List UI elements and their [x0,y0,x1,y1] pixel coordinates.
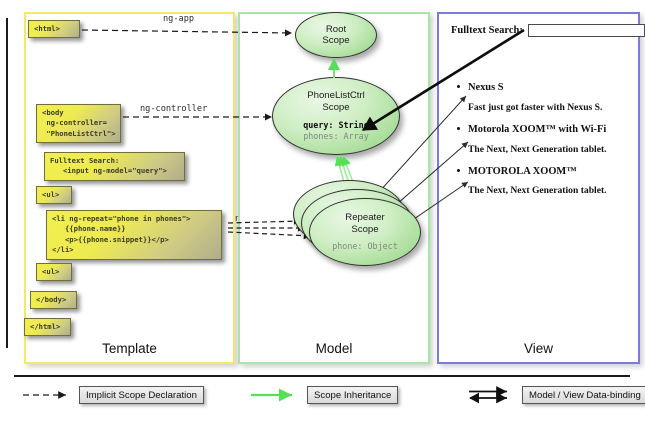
legend-scope-inheritance: Scope Inheritance [248,386,398,404]
scope-prop-query: query: String [303,120,369,131]
fulltext-search-input[interactable] [528,24,645,37]
scope-prop-phones: phones: Array [303,131,369,142]
column-label-template: Template [26,341,233,356]
scope-title-repeater: RepeaterScope [345,212,384,235]
scope-root-scope: RootScope [295,12,377,58]
connector-label-ng-app: ng-app [163,14,194,24]
legend-implicit-scope-declaration: Implicit Scope Declaration [20,386,204,404]
scope-title-phonelistctrl: PhoneListCtrlScope [307,90,365,113]
phone-snippet: The Next, Next Generation tablet. [468,185,626,197]
code-block-body-close-tag: </body> [30,291,77,309]
phone-name: MOTOROLA XOOM™ [468,165,626,179]
legend-data-binding: Model / View Data-binding [463,386,645,404]
connector-label-ng-controller: ng-controller [140,104,207,114]
scope-title-root: RootScope [322,24,349,47]
fulltext-search-label: Fulltext Search: [451,25,523,36]
column-label-view: View [439,341,638,356]
list-item: MOTOROLA XOOM™ The Next, Next Generation… [468,165,626,198]
phone-name: Motorola XOOM™ with Wi-Fi [468,123,626,137]
legend-separator [14,375,630,377]
scope-prop-phone: phone: Object [332,241,398,252]
green-arrow-icon [248,386,300,404]
legend-label: Implicit Scope Declaration [79,386,204,404]
legend-label: Model / View Data-binding [522,386,645,404]
bullet-icon [457,127,460,130]
phone-snippet: Fast just got faster with Nexus S. [468,102,626,114]
code-block-ul-open-tag: <ul> [36,186,72,204]
legend: Implicit Scope Declaration Scope Inherit… [0,386,645,412]
legend-label: Scope Inheritance [307,386,398,404]
double-arrow-icon [463,386,515,404]
scope-phonelistctrl-scope: PhoneListCtrlScope query: String phones:… [272,77,400,155]
bullet-icon [457,169,460,172]
phone-snippet: The Next, Next Generation tablet. [468,144,626,156]
code-block-html-open-tag: <html> [28,20,80,38]
code-block-search-input-markup: Fulltext Search: <input ng-model="query"… [44,152,185,181]
scope-repeater-scope: RepeaterScope phone: Object [309,198,421,266]
code-block-body-tag: <body ng-controller= "PhoneListCtrl"> [36,104,121,143]
code-block-li-ng-repeat: <li ng-repeat="phone in phones"> {{phone… [46,210,222,260]
bullet-icon [457,85,460,88]
column-label-model: Model [240,341,428,356]
code-block-ul-close-tag: <ul> [36,263,72,281]
column-view: Fulltext Search: Nexus S Fast just got f… [437,12,640,364]
code-block-html-close-tag: </html> [24,318,71,336]
phone-list: Nexus S Fast just got faster with Nexus … [451,81,626,198]
fulltext-search-row: Fulltext Search: [451,24,626,37]
phone-name: Nexus S [468,81,626,95]
list-item: Nexus S Fast just got faster with Nexus … [468,81,626,114]
view-content: Fulltext Search: Nexus S Fast just got f… [439,14,638,207]
list-item: Motorola XOOM™ with Wi-Fi The Next, Next… [468,123,626,156]
left-edge-rule [6,18,8,348]
dashed-arrow-icon [20,386,72,404]
diagram-canvas: Template <html> <body ng-controller= "Ph… [0,0,645,425]
